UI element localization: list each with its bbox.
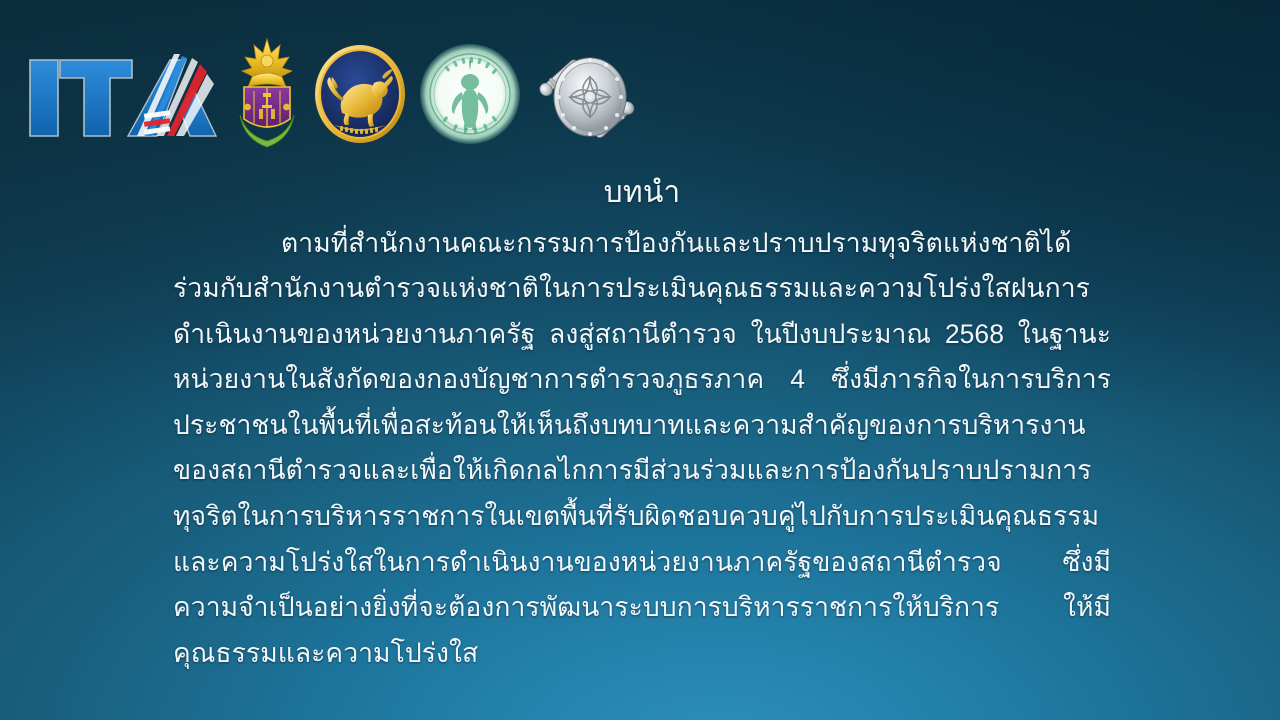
presentation-slide: บทนำ ตามที่สำนักงานคณะกรรมการป้องกันและป… — [0, 0, 1280, 720]
logo-strip — [24, 30, 642, 158]
ita-logo — [24, 46, 222, 142]
singha-seal — [312, 43, 408, 145]
slide-text-block: บทนำ ตามที่สำนักงานคณะกรรมการป้องกันและป… — [173, 170, 1111, 676]
slide-title: บทนำ — [173, 170, 1111, 217]
royal-thai-police-emblem — [232, 35, 302, 153]
silver-medallion — [532, 33, 642, 155]
erawan-seal — [418, 42, 522, 146]
slide-body-paragraph: ตามที่สำนักงานคณะกรรมการป้องกันและปราบปร… — [173, 221, 1111, 677]
